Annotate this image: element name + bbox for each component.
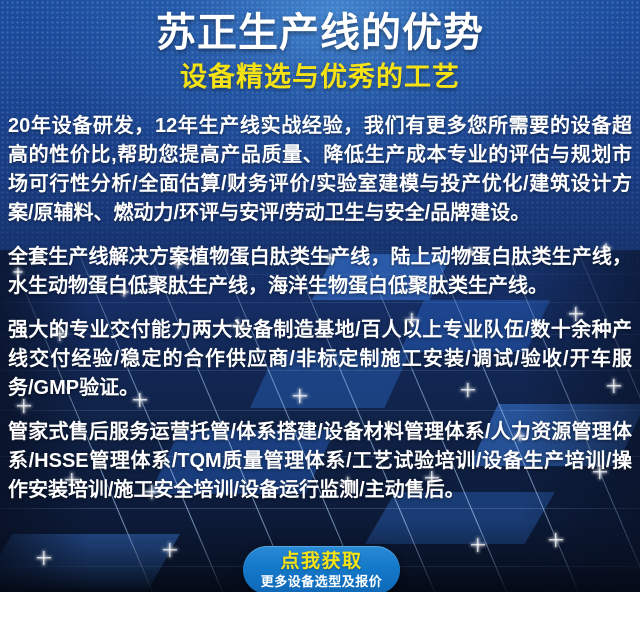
page-subtitle: 设备精选与优秀的工艺 <box>0 60 640 94</box>
poster-content: 苏正生产线的优势 设备精选与优秀的工艺 20年设备研发，12年生产线实战经验，我… <box>0 0 640 592</box>
promo-poster: 苏正生产线的优势 设备精选与优秀的工艺 20年设备研发，12年生产线实战经验，我… <box>0 0 640 631</box>
page-title: 苏正生产线的优势 <box>0 8 640 58</box>
cta-main-label: 点我获取 <box>280 551 362 573</box>
cta-sub-label: 更多设备选型及报价 <box>261 573 383 590</box>
paragraph: 管家式售后服务运营托管/体系搭建/设备材料管理体系/人力资源管理体系/HSSE管… <box>8 418 632 505</box>
body-copy: 20年设备研发，12年生产线实战经验，我们有更多您所需要的设备超高的性价比,帮助… <box>8 112 632 505</box>
bottom-white-strip <box>0 592 640 631</box>
paragraph: 强大的专业交付能力两大设备制造基地/百人以上专业队伍/数十余种产线交付经验/稳定… <box>8 316 632 403</box>
paragraph: 20年设备研发，12年生产线实战经验，我们有更多您所需要的设备超高的性价比,帮助… <box>8 112 632 228</box>
cta-button[interactable]: 点我获取 更多设备选型及报价 <box>243 546 400 594</box>
paragraph: 全套生产线解决方案植物蛋白肽类生产线，陆上动物蛋白肽类生产线，水生动物蛋白低聚肽… <box>8 243 632 301</box>
